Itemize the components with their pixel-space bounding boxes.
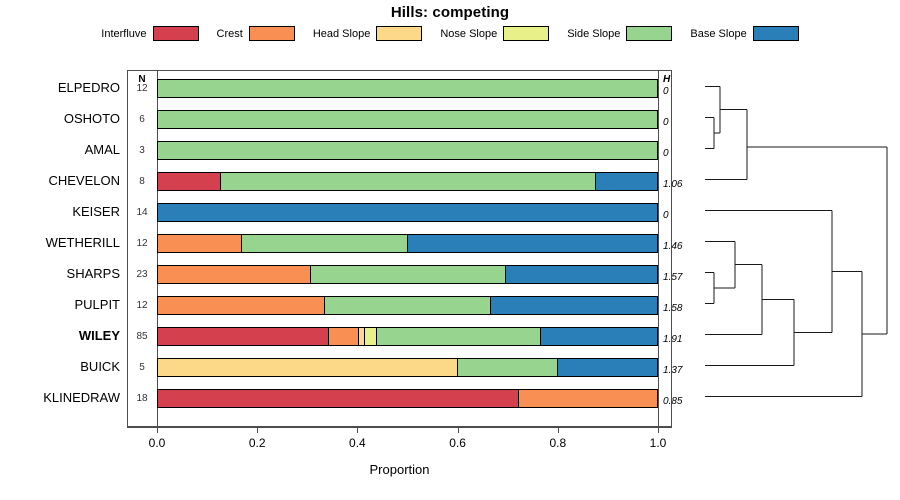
x-tick-label: 1.0 (638, 436, 678, 450)
site-label: PULPIT (0, 289, 120, 320)
stacked-bar (157, 172, 658, 191)
legend-swatch (753, 26, 799, 41)
x-tick (357, 427, 358, 433)
n-value: 85 (130, 320, 154, 348)
site-label: KLINEDRAW (0, 382, 120, 413)
legend-swatch (249, 26, 295, 41)
legend-item: Base Slope (690, 26, 798, 41)
bar-segment (518, 390, 657, 407)
x-tick-label: 0.6 (438, 436, 478, 450)
bar-segment (158, 390, 518, 407)
legend: InterfluveCrestHead SlopeNose SlopeSide … (0, 26, 900, 41)
legend-swatch (376, 26, 422, 41)
stacked-bar (157, 327, 658, 346)
bar-segment (158, 173, 220, 190)
n-value: 23 (130, 258, 154, 286)
n-value: 12 (130, 72, 154, 100)
site-label: BUICK (0, 351, 120, 382)
site-label: KEISER (0, 196, 120, 227)
stacked-bar (157, 234, 658, 253)
legend-item: Interfluve (101, 26, 198, 41)
bar-segment (540, 328, 657, 345)
stacked-bar (157, 79, 658, 98)
x-tick (458, 427, 459, 433)
legend-label: Interfluve (101, 28, 146, 40)
bar-segment (158, 328, 328, 345)
site-label: WILEY (0, 320, 120, 351)
legend-item: Head Slope (313, 26, 423, 41)
x-tick (658, 427, 659, 433)
site-label: ELPEDRO (0, 72, 120, 103)
bar-segment (505, 266, 657, 283)
n-value: 8 (130, 165, 154, 193)
legend-label: Head Slope (313, 28, 371, 40)
bar-segment (158, 235, 241, 252)
stacked-bar (157, 296, 658, 315)
legend-item: Nose Slope (440, 26, 549, 41)
legend-label: Nose Slope (440, 28, 497, 40)
bar-segment (158, 297, 324, 314)
dendrogram-svg (672, 70, 900, 430)
n-value: 5 (130, 351, 154, 379)
bar-segment (241, 235, 407, 252)
x-tick-label: 0.0 (137, 436, 177, 450)
bar-segment (407, 235, 657, 252)
x-tick (558, 427, 559, 433)
bar-segment (490, 297, 657, 314)
x-tick-label: 0.2 (237, 436, 277, 450)
stacked-bar (157, 203, 658, 222)
stacked-bar (157, 389, 658, 408)
bar-segment (310, 266, 505, 283)
n-value: 6 (130, 103, 154, 131)
chart-root: Hills: competing InterfluveCrestHead Slo… (0, 0, 900, 500)
legend-label: Crest (217, 28, 243, 40)
legend-label: Base Slope (690, 28, 746, 40)
stacked-bar (157, 265, 658, 284)
stacked-bar (157, 358, 658, 377)
bar-segment (158, 111, 657, 128)
bar-segment (376, 328, 540, 345)
bar-segment (364, 328, 376, 345)
legend-label: Side Slope (567, 28, 620, 40)
bar-segment (158, 142, 657, 159)
bar-segment (158, 266, 310, 283)
bar-segment (457, 359, 557, 376)
n-value: 18 (130, 382, 154, 410)
legend-item: Side Slope (567, 26, 672, 41)
x-axis-title: Proportion (127, 462, 672, 477)
legend-item: Crest (217, 26, 295, 41)
legend-swatch (503, 26, 549, 41)
stacked-bar (157, 110, 658, 129)
legend-swatch (153, 26, 199, 41)
n-value: 14 (130, 196, 154, 224)
n-value: 12 (130, 227, 154, 255)
stacked-bar (157, 141, 658, 160)
x-tick (257, 427, 258, 433)
bar-segment (595, 173, 657, 190)
bar-segment (557, 359, 657, 376)
bar-segment (220, 173, 594, 190)
legend-swatch (626, 26, 672, 41)
x-tick-label: 0.4 (337, 436, 377, 450)
site-label: WETHERILL (0, 227, 120, 258)
x-tick-label: 0.8 (538, 436, 578, 450)
n-value: 12 (130, 289, 154, 317)
dendrogram (672, 70, 900, 430)
site-label: AMAL (0, 134, 120, 165)
site-label: SHARPS (0, 258, 120, 289)
site-label: CHEVELON (0, 165, 120, 196)
x-axis-line (127, 427, 672, 428)
bar-segment (158, 359, 457, 376)
bar-segment (324, 297, 490, 314)
site-label: OSHOTO (0, 103, 120, 134)
page-title: Hills: competing (0, 4, 900, 21)
bar-segment (158, 204, 657, 221)
bar-segment (328, 328, 357, 345)
n-value: 3 (130, 134, 154, 162)
x-tick (157, 427, 158, 433)
bar-segment (158, 80, 657, 97)
